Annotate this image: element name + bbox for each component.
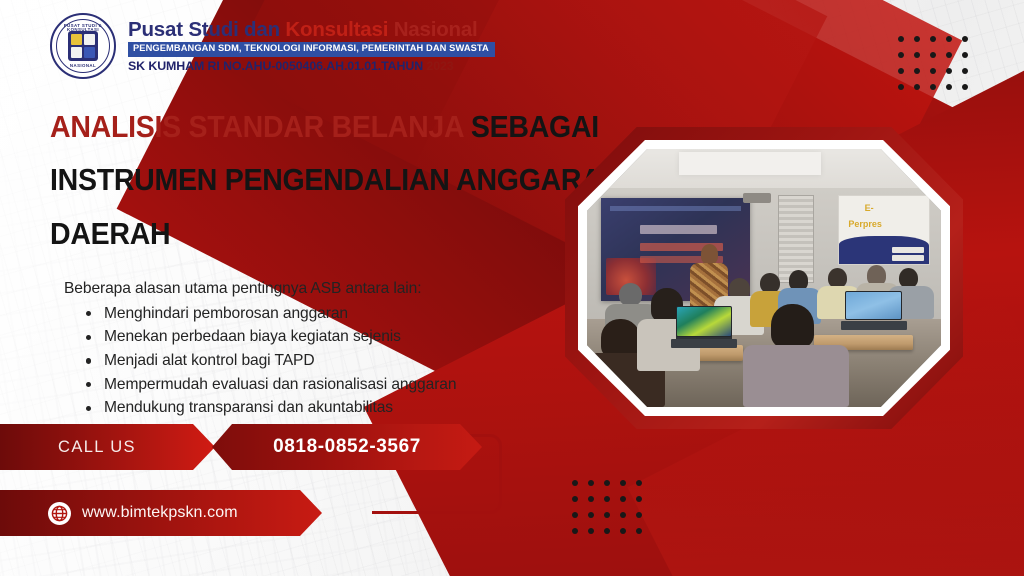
brand-text-block: Pusat Studi dan Konsultasi Nasional PENG… xyxy=(128,19,495,73)
body-copy: Beberapa alasan utama pentingnya ASB ant… xyxy=(64,278,564,420)
globe-icon xyxy=(48,502,71,525)
photo-laptop-screen xyxy=(845,291,902,320)
sk-number: SK KUMHAM RI NO.AHU-0050406.AH.01.01.TAH… xyxy=(128,59,426,73)
headline-highlight: ANALISIS STANDAR BELANJA xyxy=(50,109,471,144)
list-item: Menjadi alat kontrol bagi TAPD xyxy=(86,349,564,373)
photo-laptop-open xyxy=(676,306,733,347)
photo-projector-mount xyxy=(743,193,771,203)
headline-line-1: ANALISIS STANDAR BELANJA SEBAGAI xyxy=(50,100,519,153)
organization-name: Pusat Studi dan Konsultasi Nasional xyxy=(128,19,495,41)
photo-banner-text-2: Perpres xyxy=(848,219,882,229)
photo-attendee-head xyxy=(619,283,642,306)
dot-grid-top-right xyxy=(898,36,968,90)
phone-number-band[interactable]: 0818-0852-3567 xyxy=(212,424,482,470)
website-url[interactable]: www.bimtekpskn.com xyxy=(82,504,238,522)
photo-scene: E- Perpres xyxy=(587,149,941,407)
photo-foreground-attendee-torso xyxy=(743,345,849,407)
list-item: Menekan perbedaan biaya kegiatan sejenis xyxy=(86,325,564,349)
organization-logo-icon: PUSAT STUDI & KONSULTASI NASIONAL xyxy=(50,13,116,79)
seminar-photo: E- Perpres xyxy=(587,149,941,407)
photo-banner-chip-2 xyxy=(892,255,924,261)
photo-slide-title xyxy=(640,225,717,234)
benefits-list: Menghindari pemborosan anggaran Menekan … xyxy=(64,302,564,420)
headline-line-2: INSTRUMEN PENGENDALIAN ANGGARAN xyxy=(50,153,519,206)
brand-header: PUSAT STUDI & KONSULTASI NASIONAL Pusat … xyxy=(0,0,560,92)
website-band[interactable]: www.bimtekpskn.com xyxy=(0,490,322,536)
org-name-part2: Konsultasi xyxy=(285,18,388,41)
list-item: Mempermudah evaluasi dan rasionalisasi a… xyxy=(86,373,564,397)
photo-presenter-head xyxy=(701,244,718,264)
list-item: Menghindari pemborosan anggaran xyxy=(86,302,564,326)
photo-banner-chip-1 xyxy=(892,247,924,253)
seminar-photo-frame: E- Perpres xyxy=(565,127,963,429)
page-title: ANALISIS STANDAR BELANJA SEBAGAI INSTRUM… xyxy=(50,100,560,260)
photo-banner-text-1: E- xyxy=(865,203,874,213)
photo-slide-toolbar xyxy=(610,206,741,211)
body-intro-text: Beberapa alasan utama pentingnya ASB ant… xyxy=(64,278,564,300)
photo-foreground-attendee-head xyxy=(771,304,813,348)
poster-canvas: PUSAT STUDI & KONSULTASI NASIONAL Pusat … xyxy=(0,0,1024,576)
photo-ceiling-panel xyxy=(679,152,821,175)
photo-laptop-open xyxy=(845,291,902,330)
organization-subtitle-band: PENGEMBANGAN SDM, TEKNOLOGI INFORMASI, P… xyxy=(128,42,495,57)
photo-wall-banner: E- Perpres xyxy=(838,195,930,265)
call-us-band: CALL US xyxy=(0,424,215,470)
org-name-part1: Pusat Studi dan xyxy=(128,18,285,41)
photo-laptop-screen xyxy=(676,306,733,337)
legal-registration-line: SK KUMHAM RI NO.AHU-0050406.AH.01.01.TAH… xyxy=(128,59,495,73)
photo-laptop-keyboard xyxy=(671,339,737,348)
phone-number[interactable]: 0818-0852-3567 xyxy=(273,436,421,458)
org-name-part3: Nasional xyxy=(388,18,477,41)
logo-ring-bottom-text: NASIONAL xyxy=(52,64,114,68)
call-us-label: CALL US xyxy=(58,438,136,457)
sk-year: 2023 xyxy=(426,59,453,73)
logo-shield-icon xyxy=(68,31,98,61)
photo-laptop-keyboard xyxy=(841,321,907,330)
contact-cta-group: CALL US 0818-0852-3567 www.bimtekpskn.co… xyxy=(0,416,1024,576)
headline-line-3: DAERAH xyxy=(50,207,519,260)
